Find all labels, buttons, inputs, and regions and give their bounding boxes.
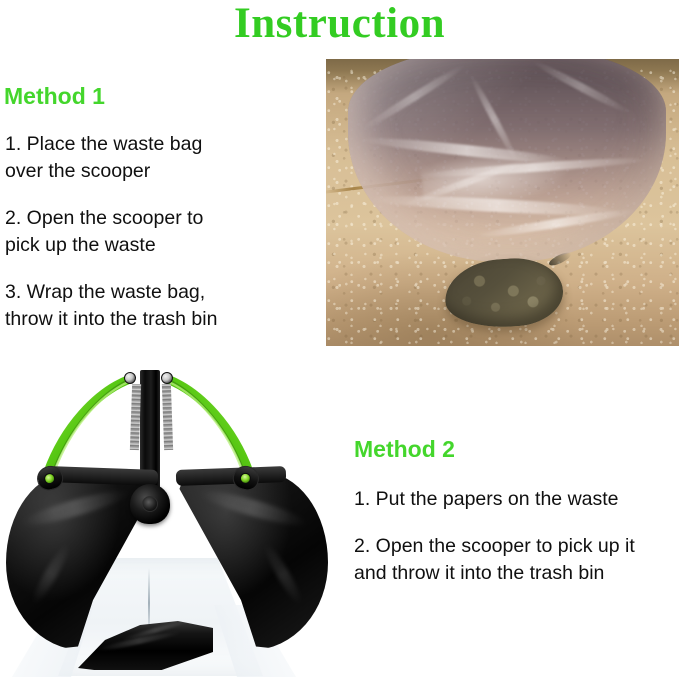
- arm-right-shadow: [167, 379, 245, 474]
- step-line: 2. Open the scooper to: [5, 205, 305, 232]
- step-line: over the scooper: [5, 158, 305, 185]
- method-1-steps: 1. Place the waste bag over the scooper …: [5, 131, 305, 333]
- arm-left-shadow: [52, 379, 130, 474]
- page-title: Instruction: [0, 1, 679, 47]
- method-1-step-1: 1. Place the waste bag over the scooper: [5, 131, 305, 185]
- arm-left-highlight: [55, 382, 128, 470]
- method-2-step-2: 2. Open the scooper to pick up it and th…: [354, 533, 679, 587]
- waste-bag-photo: [326, 59, 679, 346]
- pivot-bolt-right: [161, 372, 173, 384]
- step-line: throw it into the trash bin: [5, 306, 305, 333]
- method-2-step-1: 1. Put the papers on the waste: [354, 486, 679, 513]
- step-line: 2. Open the scooper to pick up it: [354, 533, 679, 560]
- instruction-page: Instruction Method 1 1. Place the waste …: [0, 0, 679, 680]
- arm-right-highlight: [169, 382, 242, 470]
- green-hinge-eye: [43, 472, 56, 485]
- method-2-steps: 1. Put the papers on the waste 2. Open t…: [354, 486, 679, 587]
- method-2-heading: Method 2: [354, 436, 455, 462]
- center-pivot-hub: [130, 484, 170, 524]
- method-1-step-2: 2. Open the scooper to pick up the waste: [5, 205, 305, 259]
- method-1-step-3: 3. Wrap the waste bag, throw it into the…: [5, 279, 305, 333]
- step-line: 1. Place the waste bag: [5, 131, 305, 158]
- step-line: and throw it into the trash bin: [354, 560, 679, 587]
- pivot-bolt-left: [124, 372, 136, 384]
- scooper-product-photo: [0, 362, 340, 680]
- method-1-heading: Method 1: [4, 83, 105, 109]
- green-hinge-eye: [239, 472, 252, 485]
- step-line: 1. Put the papers on the waste: [354, 486, 679, 513]
- step-line: pick up the waste: [5, 232, 305, 259]
- step-line: 3. Wrap the waste bag,: [5, 279, 305, 306]
